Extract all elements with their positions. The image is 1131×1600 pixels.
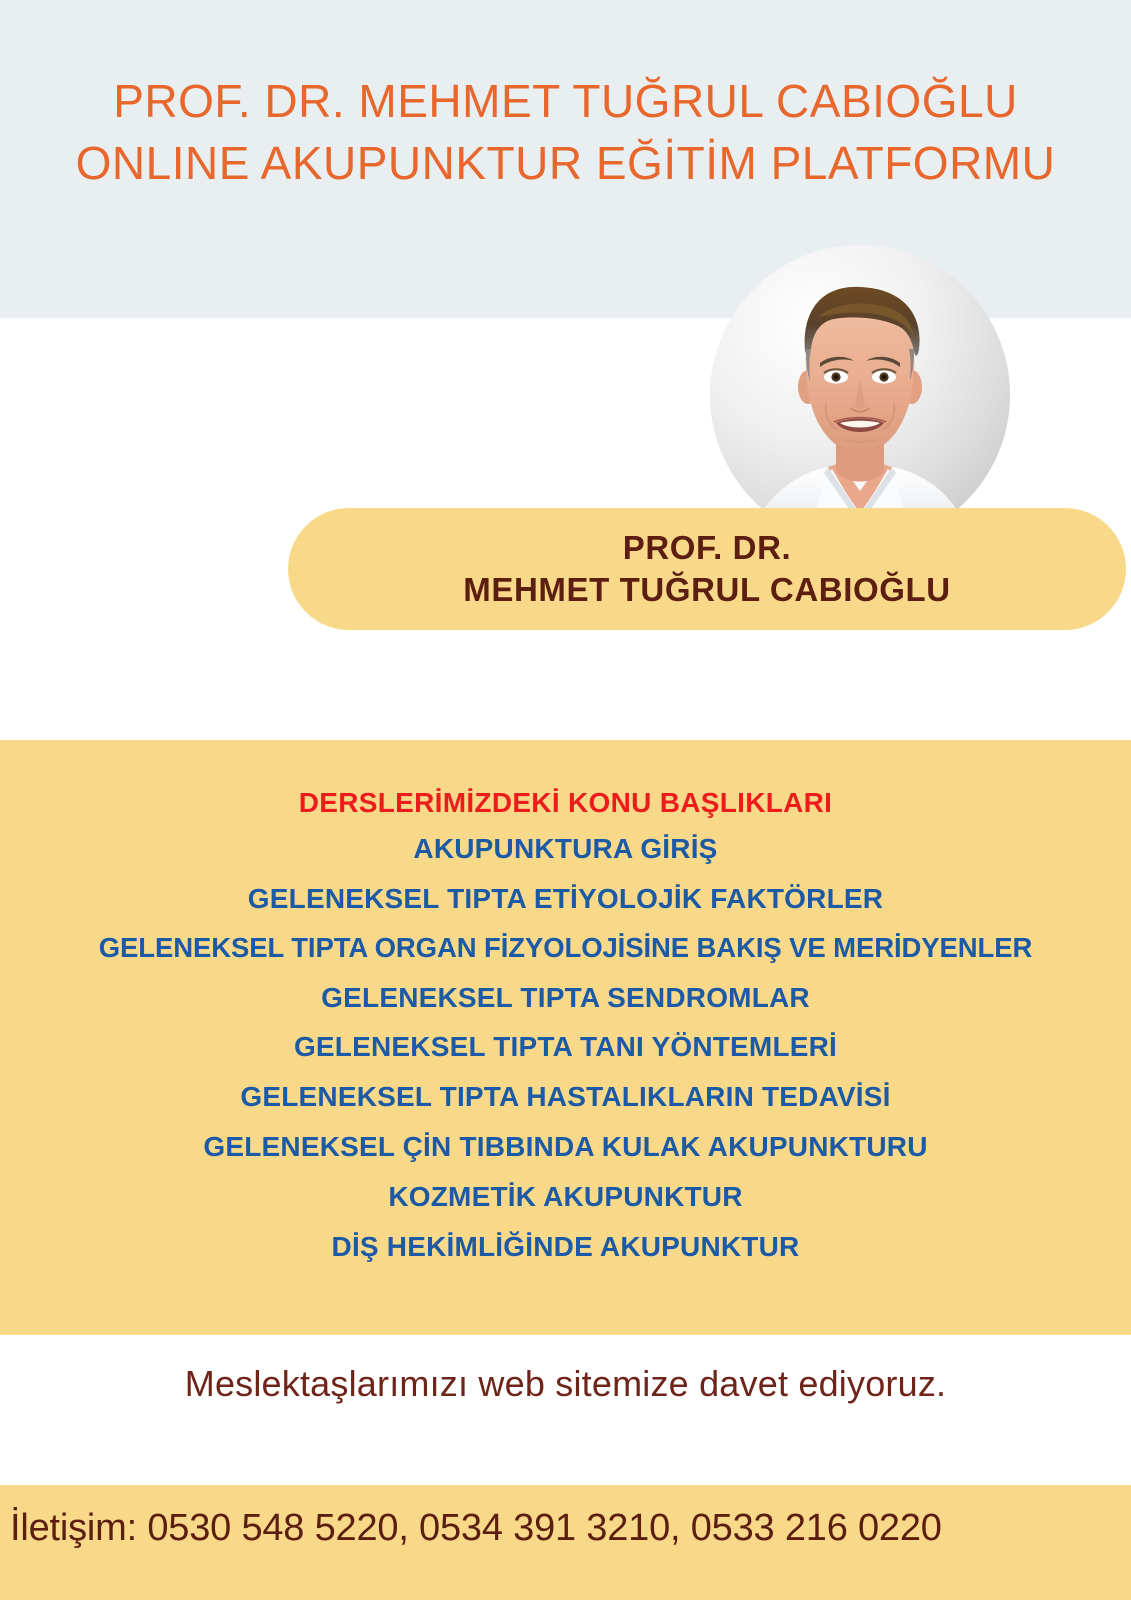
topics-section: DERSLERİMİZDEKİ KONU BAŞLIKLARI AKUPUNKT… bbox=[0, 740, 1131, 1335]
topic-item: GELENEKSEL TIPTA ORGAN FİZYOLOJİSİNE BAK… bbox=[0, 924, 1131, 973]
topic-item: GELENEKSEL ÇİN TIBBINDA KULAK AKUPUNKTUR… bbox=[0, 1122, 1131, 1172]
page-title: PROF. DR. MEHMET TUĞRUL CABIOĞLU ONLINE … bbox=[0, 70, 1131, 194]
instructor-portrait-photo bbox=[710, 245, 1010, 545]
poster-root: PROF. DR. MEHMET TUĞRUL CABIOĞLU ONLINE … bbox=[0, 0, 1131, 1600]
page-title-line-1: PROF. DR. MEHMET TUĞRUL CABIOĞLU bbox=[0, 70, 1131, 132]
topics-heading: DERSLERİMİZDEKİ KONU BAŞLIKLARI bbox=[0, 782, 1131, 824]
contact-bar: İletişim: 0530 548 5220, 0534 391 3210, … bbox=[0, 1485, 1131, 1600]
topic-item: AKUPUNKTURA GİRİŞ bbox=[0, 824, 1131, 874]
topic-item: GELENEKSEL TIPTA TANI YÖNTEMLERİ bbox=[0, 1022, 1131, 1072]
topics-list: AKUPUNKTURA GİRİŞ GELENEKSEL TIPTA ETİYO… bbox=[0, 824, 1131, 1272]
topic-item: KOZMETİK AKUPUNKTUR bbox=[0, 1172, 1131, 1222]
topic-item: DİŞ HEKİMLİĞİNDE AKUPUNKTUR bbox=[0, 1222, 1131, 1272]
invitation-text: Meslektaşlarımızı web sitemize davet edi… bbox=[0, 1363, 1131, 1405]
contact-phone-numbers[interactable]: İletişim: 0530 548 5220, 0534 391 3210, … bbox=[10, 1507, 1125, 1550]
instructor-name-line-1: PROF. DR. bbox=[623, 527, 792, 569]
page-title-line-2: ONLINE AKUPUNKTUR EĞİTİM PLATFORMU bbox=[0, 132, 1131, 194]
topic-item: GELENEKSEL TIPTA ETİYOLOJİK FAKTÖRLER bbox=[0, 874, 1131, 924]
instructor-name-banner: PROF. DR. MEHMET TUĞRUL CABIOĞLU bbox=[288, 508, 1126, 630]
topic-item: GELENEKSEL TIPTA HASTALIKLARIN TEDAVİSİ bbox=[0, 1072, 1131, 1122]
instructor-name-line-2: MEHMET TUĞRUL CABIOĞLU bbox=[463, 569, 950, 611]
topic-item: GELENEKSEL TIPTA SENDROMLAR bbox=[0, 973, 1131, 1023]
portrait-illustration bbox=[710, 245, 1010, 545]
